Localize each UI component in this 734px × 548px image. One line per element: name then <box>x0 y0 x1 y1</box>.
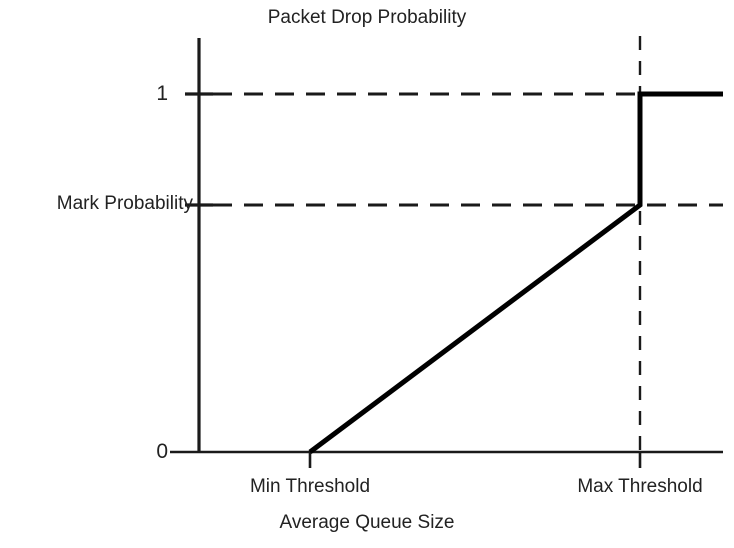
x-tick-label-min-threshold: Min Threshold <box>250 477 370 496</box>
chart-figure: Packet Drop Probability 1 Mark Probabili… <box>0 0 734 548</box>
y-tick-label-one: 1 <box>156 83 168 104</box>
series-drop-probability <box>310 94 723 452</box>
chart-title: Packet Drop Probability <box>0 8 734 27</box>
x-axis-title: Average Queue Size <box>0 513 734 532</box>
x-tick-label-max-threshold: Max Threshold <box>577 477 702 496</box>
y-tick-label-mark-probability: Mark Probability <box>57 194 193 213</box>
chart-plot-area <box>0 0 734 548</box>
y-tick-label-zero: 0 <box>156 441 168 462</box>
